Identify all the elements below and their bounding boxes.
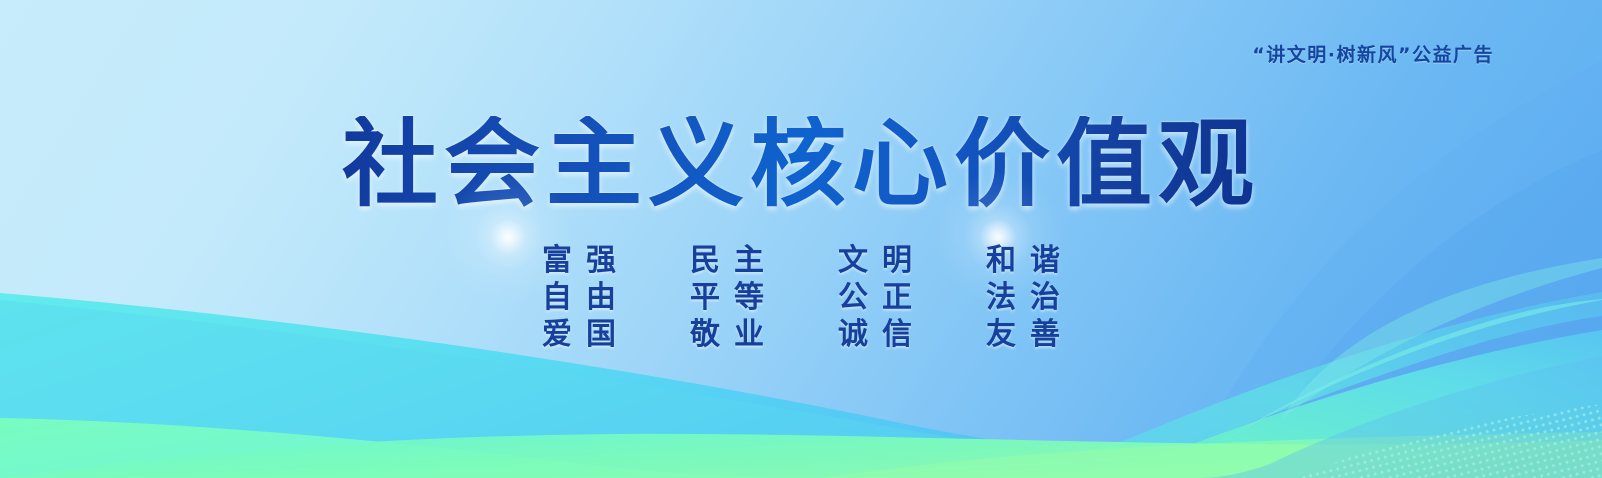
core-value: 爱国 [505,317,653,353]
core-value: 平等 [653,280,801,316]
core-value: 诚信 [801,317,949,353]
core-value: 和谐 [949,243,1097,279]
core-value: 敬业 [653,317,801,353]
core-value: 自由 [505,280,653,316]
core-value: 民主 [653,243,801,279]
core-values-block: 富强 民主 文明 和谐 自由 平等 公正 法治 爱国 敬业 诚信 友善 [0,243,1602,353]
poster-banner: “讲文明·树新风”公益广告 社会主义核心价值观 富强 民主 文明 和谐 自由 平… [0,0,1602,478]
public-service-ad-strapline: “讲文明·树新风”公益广告 [1252,40,1494,67]
core-values-grid: 富强 民主 文明 和谐 自由 平等 公正 法治 爱国 敬业 诚信 友善 [505,243,1097,353]
background-waves [0,0,1602,478]
core-value: 友善 [949,317,1097,353]
core-value: 富强 [505,243,653,279]
core-value: 文明 [801,243,949,279]
core-value: 法治 [949,280,1097,316]
core-value: 公正 [801,280,949,316]
